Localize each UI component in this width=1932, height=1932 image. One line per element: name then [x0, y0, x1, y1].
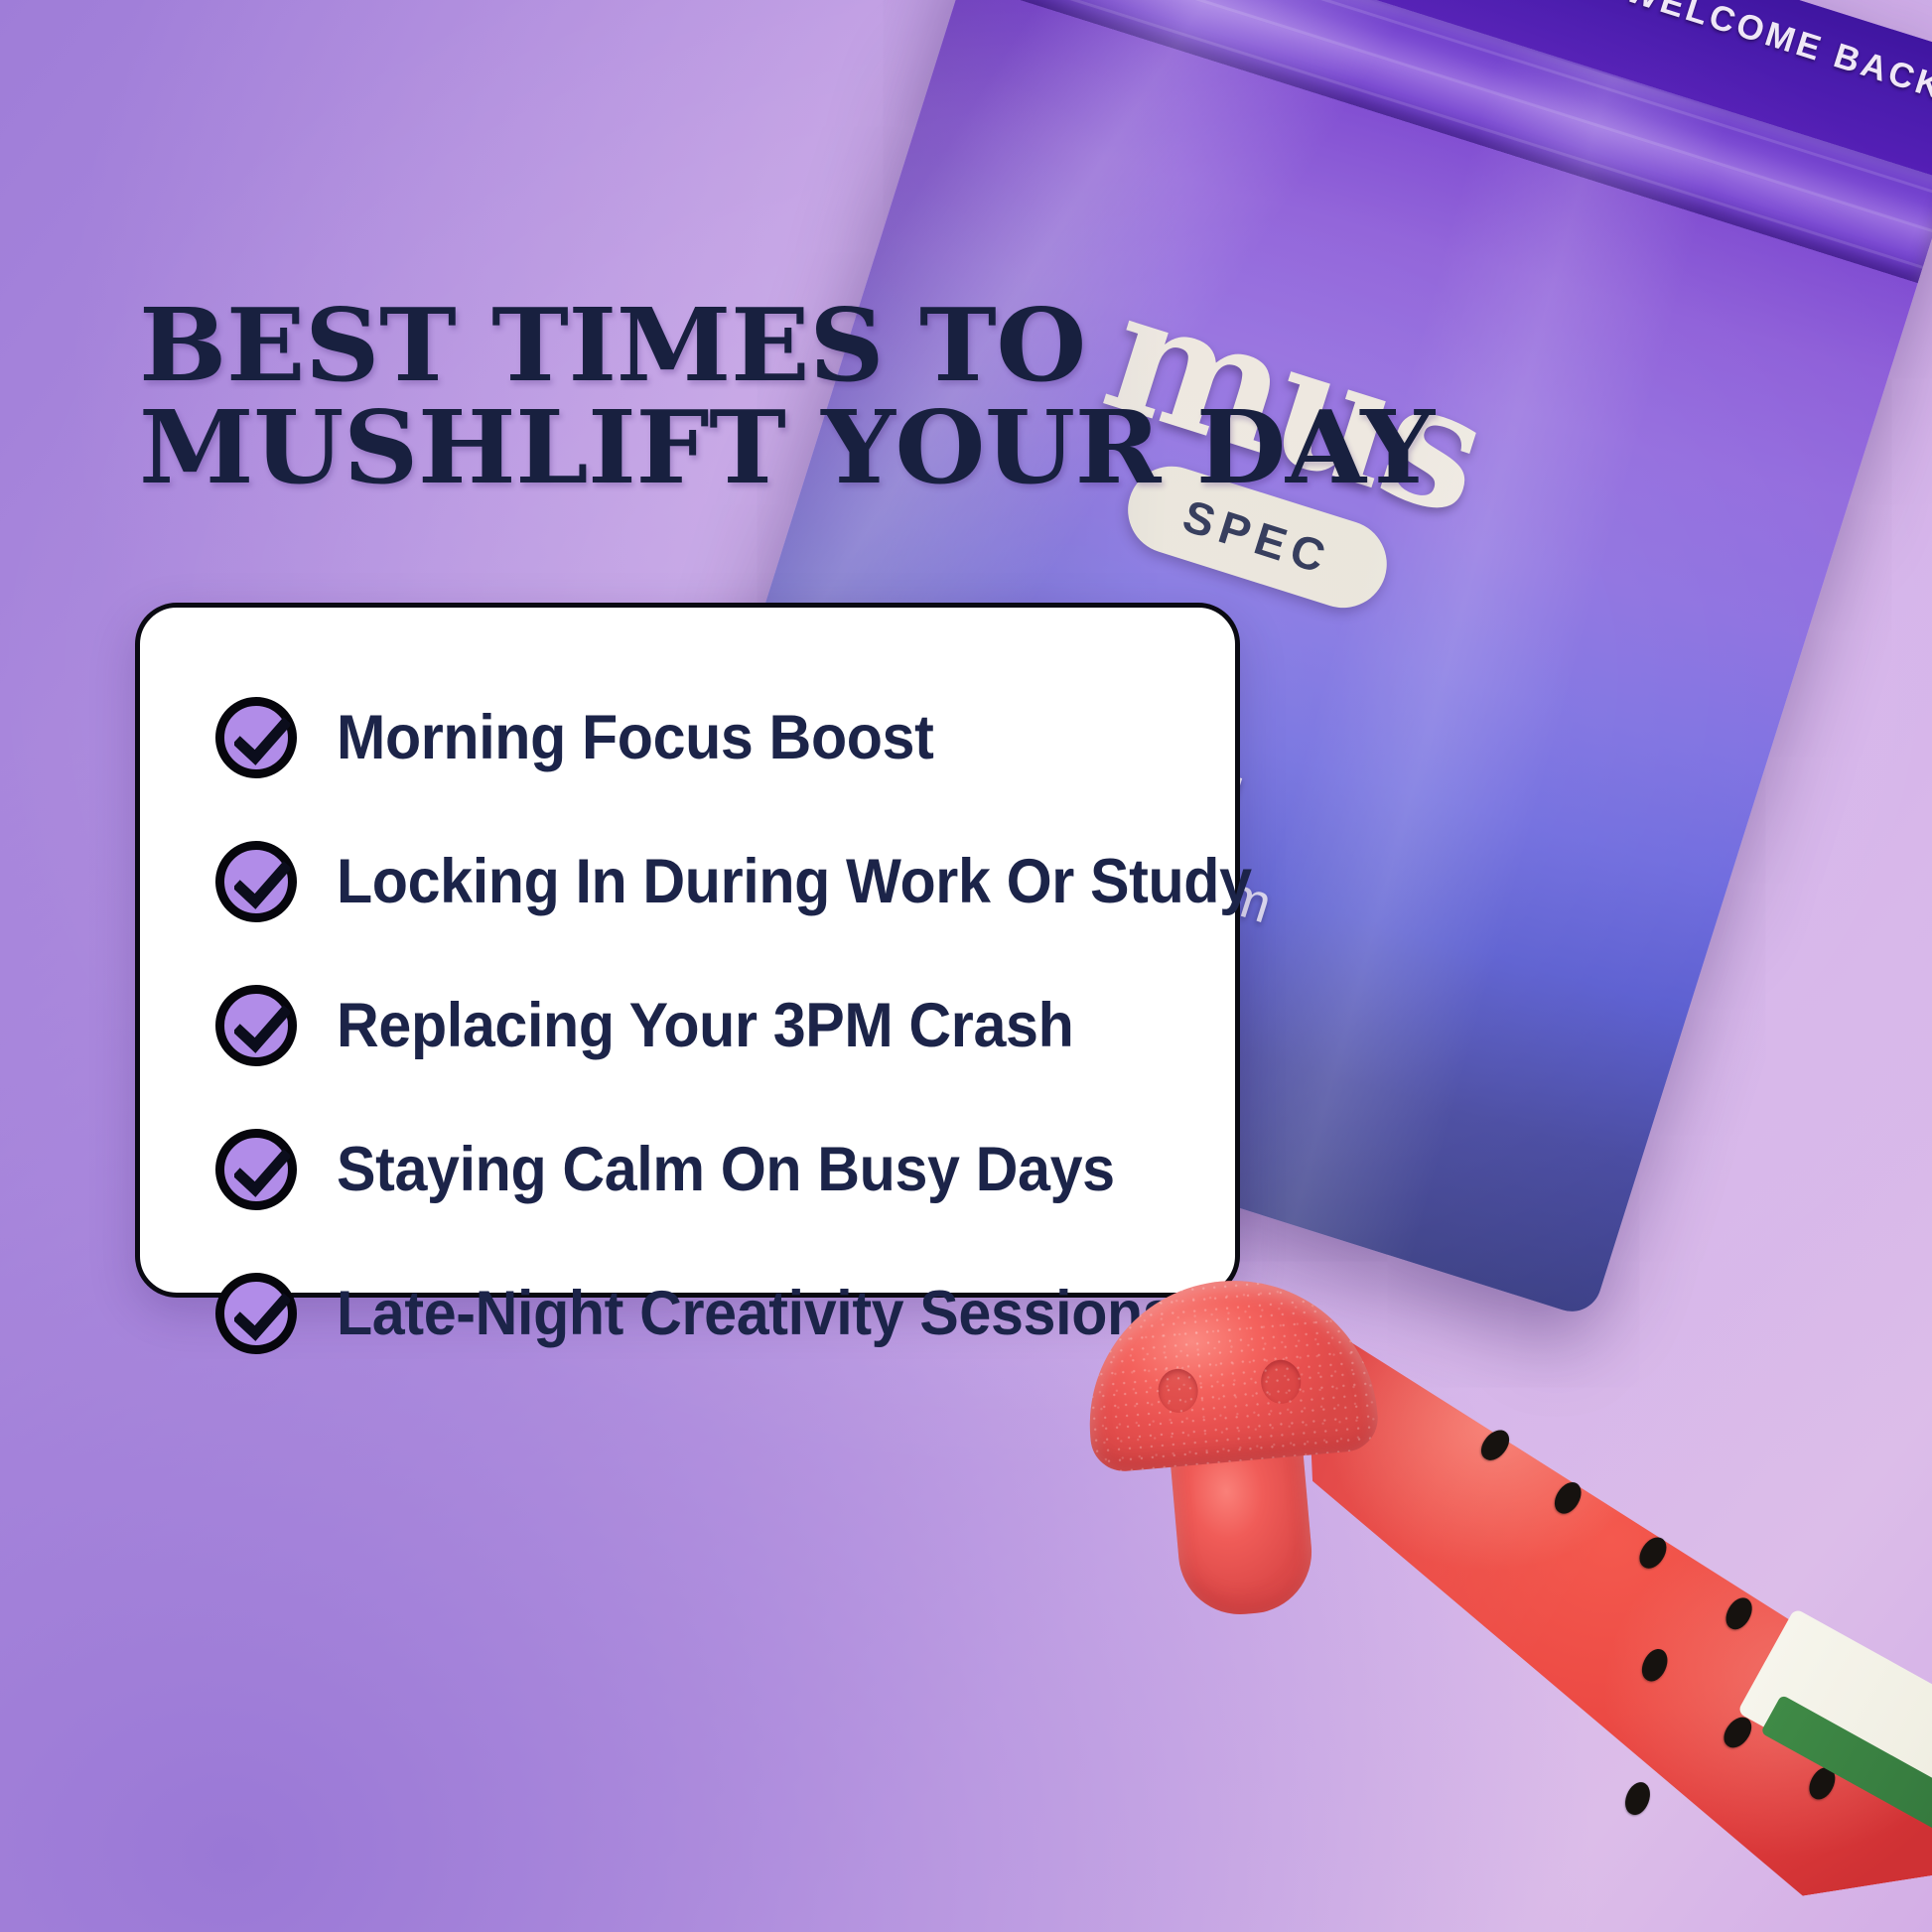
- list-item-label: Staying Calm On Busy Days: [337, 1134, 1115, 1205]
- check-circle-icon: [215, 985, 297, 1066]
- gummy-cap: [1078, 1269, 1381, 1474]
- page-title: BEST TIMES TO MUSHLIFT YOUR DAY: [139, 294, 1228, 498]
- list-item: Replacing Your 3PM Crash: [140, 953, 1235, 1097]
- check-circle-icon: [215, 697, 297, 778]
- checklist-card: Morning Focus Boost Locking In During Wo…: [135, 603, 1240, 1298]
- check-circle-icon: [215, 1129, 297, 1210]
- watermelon-seed: [1621, 1778, 1655, 1818]
- list-item-label: Replacing Your 3PM Crash: [337, 990, 1073, 1061]
- list-item-label: Late-Night Creativity Sessions: [337, 1278, 1174, 1349]
- gummy-sugar-texture: [1078, 1269, 1381, 1474]
- checklist: Morning Focus Boost Locking In During Wo…: [140, 665, 1235, 1385]
- list-item: Morning Focus Boost: [140, 665, 1235, 809]
- list-item-label: Locking In During Work Or Study: [337, 846, 1252, 917]
- poster-canvas: WELCOME BACK mus SPEC AWAKEN full spectr…: [0, 0, 1932, 1932]
- check-circle-icon: [215, 1273, 297, 1354]
- list-item: Staying Calm On Busy Days: [140, 1097, 1235, 1241]
- mushroom-gummy: [1078, 1269, 1395, 1630]
- list-item-label: Morning Focus Boost: [337, 702, 933, 773]
- page-title-line-2: MUSHLIFT YOUR DAY: [139, 396, 1228, 498]
- list-item: Locking In During Work Or Study: [140, 809, 1235, 953]
- list-item: Late-Night Creativity Sessions: [140, 1241, 1235, 1385]
- page-title-line-1: BEST TIMES TO: [139, 294, 1228, 396]
- check-circle-icon: [215, 841, 297, 922]
